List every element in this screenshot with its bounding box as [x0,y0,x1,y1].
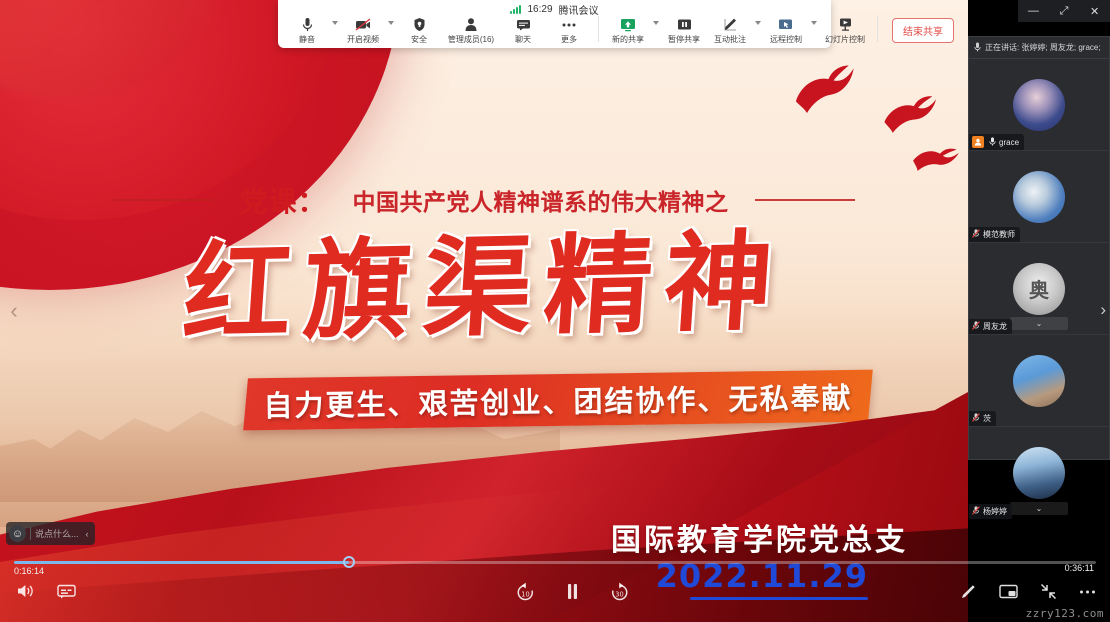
rewind-10-icon[interactable]: 10 [515,582,536,601]
toolbar-label-chat: 聊天 [515,34,531,45]
watermark: zzry123.com [1026,607,1104,620]
toolbar-button-remote-control[interactable]: 远程控制 [763,16,809,45]
chevron-down-icon [653,21,659,25]
chevron-down-icon [811,21,817,25]
toolbar-label-slide-control: 幻灯片控制 [825,34,865,45]
svg-text:30: 30 [615,590,623,598]
participant-name: 周友龙 [983,321,1007,332]
toolbar-label-mute: 静音 [299,34,315,45]
dove-icon [786,62,864,118]
toolbar-label-security: 安全 [411,34,427,45]
signal-strength-icon [510,5,521,14]
divider [30,527,31,540]
current-time: 0:16:14 [14,566,44,576]
microphone-muted-icon [972,506,980,517]
chevron-down-icon [332,21,338,25]
meeting-toolbar-items: 静音 开启视频 安全 [284,16,954,48]
expand-participant-button[interactable]: ⌄ [1010,502,1068,515]
microphone-icon [301,16,314,33]
volume-icon[interactable] [16,583,35,599]
shared-slide: 党课： 中国共产党人精神谱系的伟大精神之 红旗渠精神 自力更生、艰苦创业、团结协… [0,0,968,622]
organization-name: 国际教育学院党总支 [611,515,908,559]
meeting-app-name: 腾讯会议 [559,2,599,17]
date-annotation-underline [690,597,868,600]
participant-nametag: 茨 [969,411,996,426]
slide-control-icon [838,16,853,33]
participant-nametag: 周友龙 [969,319,1012,334]
shield-icon [413,16,426,33]
toolbar-button-pause-share[interactable]: 暂停共享 [661,16,707,45]
toolbar-divider [877,16,878,42]
meeting-time: 16:29 [527,4,552,15]
toolbar-label-manage-members: 管理成员(16) [448,34,494,45]
chevron-down-icon [755,21,761,25]
window-controls: — ⤢ ✕ [1018,0,1110,22]
ellipsis-icon [561,16,577,33]
toolbar-caret-video[interactable] [386,16,396,48]
course-topic: 中国共产党人精神谱系的伟大精神之 [353,183,729,217]
host-badge [972,136,984,148]
toolbar-caret-remote-control[interactable] [809,16,819,48]
avatar [1013,355,1065,407]
participants-panel: 正在讲话: 张婷婷; 周友龙; grace; grace 模 [968,36,1110,460]
toolbar-button-new-share[interactable]: 新的共享 [605,16,651,45]
player-right-controls [960,583,1096,600]
meeting-status-bar: 16:29 腾讯会议 [278,1,831,17]
avatar [1013,447,1065,499]
chat-input[interactable]: 说点什么... [35,527,79,540]
toolbar-divider [598,16,599,42]
dove-icon [878,94,942,136]
toolbar-label-new-share: 新的共享 [612,34,644,45]
speaking-label: 正在讲话: 张婷婷; 周友龙; grace; [985,42,1101,53]
slide-subtitle-row: 党课： 中国共产党人精神谱系的伟大精神之 [0,180,968,220]
toolbar-button-manage-members[interactable]: 管理成员(16) [442,16,500,45]
participant-tile[interactable]: ⌄ 杨婷婷 [969,427,1109,519]
progress-bar[interactable] [14,556,1096,568]
dove-icon [909,144,961,177]
expand-participant-button[interactable]: ⌄ [1010,317,1068,330]
decorative-line-left [113,199,213,201]
toolbar-button-security[interactable]: 安全 [396,16,442,45]
progress-handle[interactable] [343,556,355,568]
microphone-muted-icon [972,229,980,240]
toolbar-label-more: 更多 [561,34,577,45]
prev-slide-button[interactable]: ‹ [3,300,25,322]
toolbar-button-mute[interactable]: 静音 [284,16,330,45]
pause-icon[interactable] [566,583,579,600]
emoji-smiley-icon[interactable]: ☺ [9,525,26,542]
player-left-controls [16,583,76,599]
participant-tile[interactable]: 模范教师 [969,151,1109,243]
microphone-muted-icon [972,413,980,424]
chevron-down-icon: ⌄ [1036,319,1043,328]
avatar [1013,79,1065,131]
toolbar-button-slide-control[interactable]: 幻灯片控制 [819,16,871,45]
ellipsis-icon[interactable] [1079,589,1096,595]
annotate-icon [723,16,738,33]
subtitle-icon[interactable] [57,584,76,599]
total-duration: 0:36:11 [1065,563,1094,573]
people-icon [464,16,478,33]
avatar-glyph [1013,79,1065,131]
avatar: 奥 [1013,263,1065,315]
toolbar-label-remote-control: 远程控制 [770,34,802,45]
exit-fullscreen-icon[interactable] [1040,583,1057,600]
toolbar-button-chat[interactable]: 聊天 [500,16,546,45]
toolbar-label-annotate: 互动批注 [714,34,746,45]
course-label: 党课： [239,180,326,220]
toolbar-button-annotate[interactable]: 互动批注 [707,16,753,45]
share-screen-icon [620,16,636,33]
next-participants-button[interactable]: › [1100,300,1106,320]
participant-tile[interactable]: grace [969,59,1109,151]
participant-tile[interactable]: 奥 ⌄ 周友龙 [969,243,1109,335]
microphone-muted-icon [972,321,980,332]
picture-in-picture-icon[interactable] [999,584,1018,599]
microphone-icon [974,42,981,54]
toolbar-label-pause-share: 暂停共享 [668,34,700,45]
microphone-icon [989,137,996,148]
player-playback-controls: 10 30 [515,582,630,601]
chevron-down-icon [388,21,394,25]
minimize-icon[interactable]: — [1019,0,1047,22]
slide-banner-text: 自力更生、艰苦创业、团结协作、无私奉献 [246,370,871,431]
participant-tile[interactable]: 茨 [969,335,1109,427]
collapse-chat-button[interactable]: ‹ [83,529,92,539]
participant-nametag: grace [969,134,1024,150]
avatar [1013,171,1065,223]
participant-nametag: 模范教师 [969,227,1020,242]
decorative-line-right [755,199,855,201]
end-share-button[interactable]: 结束共享 [892,18,954,43]
close-icon[interactable]: ✕ [1081,0,1109,22]
speaking-indicator: 正在讲话: 张婷婷; 周友龙; grace; [969,37,1109,59]
remote-control-icon [778,16,794,33]
pen-annotate-icon[interactable] [960,583,977,600]
meeting-toolbar: 16:29 腾讯会议 静音 开启视频 [278,0,831,48]
toolbar-label-video: 开启视频 [347,34,379,45]
participant-nametag: 杨婷婷 [969,504,1012,519]
screen-root: 党课： 中国共产党人精神谱系的伟大精神之 红旗渠精神 自力更生、艰苦创业、团结协… [0,0,1110,622]
toolbar-caret-new-share[interactable] [651,16,661,48]
forward-30-icon[interactable]: 30 [609,582,630,601]
participant-name: 杨婷婷 [983,506,1007,517]
svg-text:10: 10 [521,590,529,598]
participant-name: 茨 [983,413,991,424]
toolbar-caret-annotate[interactable] [753,16,763,48]
avatar-glyph: 奥 [1013,263,1065,315]
progress-fill [14,561,349,564]
slide-main-title: 红旗渠精神 [0,222,968,356]
video-off-icon [355,16,371,33]
toolbar-button-more[interactable]: 更多 [546,16,592,45]
participant-name: 模范教师 [983,229,1015,240]
participant-name: grace [999,138,1019,147]
pause-share-icon [677,16,692,33]
chat-bubble-icon [516,16,531,33]
toolbar-button-video[interactable]: 开启视频 [340,16,386,45]
chevron-down-icon: ⌄ [1036,504,1043,513]
chat-input-widget[interactable]: ☺ 说点什么... ‹ [6,522,95,545]
maximize-icon[interactable]: ⤢ [1050,0,1078,22]
toolbar-caret-mute[interactable] [330,16,340,48]
